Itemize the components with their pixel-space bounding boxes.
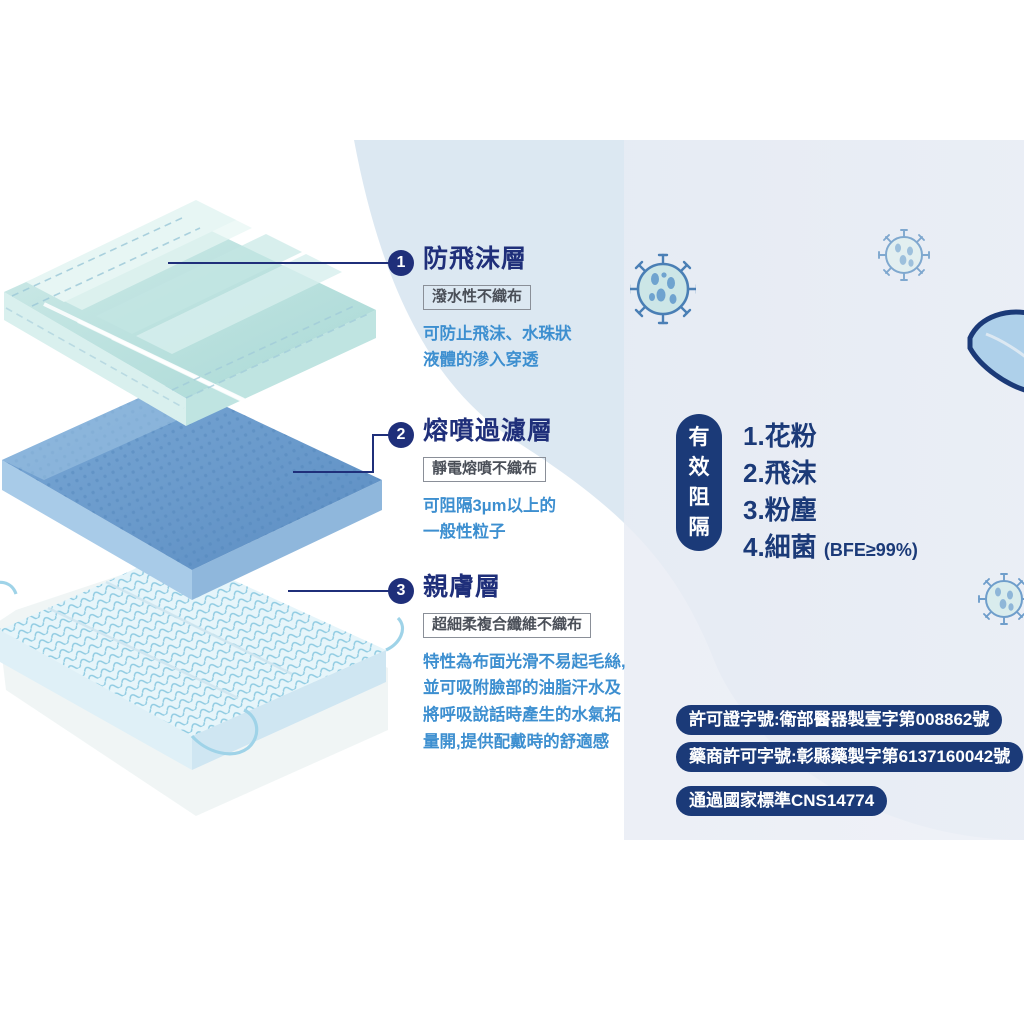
certificate-badge: 藥商許可字號:彰縣藥製字第6137160042號 [676, 742, 1023, 772]
effective-blocking-panel: 有 效 阻 隔 1.花粉 2.飛沫 3.粉塵 4.細菌 (BFE≥99%) [676, 414, 918, 566]
connector-line-1 [168, 262, 394, 264]
layer-title: 防飛沫層 [423, 247, 572, 272]
virus-icon [878, 222, 930, 293]
layer-description: 可阻隔3μm以上的 一般性粒子 [423, 493, 556, 546]
desc-line: 可防止飛沫、水珠狀 [423, 321, 572, 348]
effective-item: 1.花粉 [743, 418, 918, 455]
pill-char: 有 [689, 427, 710, 448]
layer-badge-1: 1 [388, 250, 414, 276]
layer-material-box: 靜電熔噴不織布 [423, 457, 546, 482]
connector-line-2-vertical [372, 434, 374, 473]
mask-sliver-graphic [962, 300, 1024, 425]
connector-line-3 [288, 590, 394, 592]
effective-blocking-pill: 有 效 阻 隔 [676, 414, 722, 551]
bfe-note: (BFE≥99%) [824, 540, 918, 560]
desc-line: 並可吸附臉部的油脂汗水及 [423, 675, 626, 702]
effective-blocking-list: 1.花粉 2.飛沫 3.粉塵 4.細菌 (BFE≥99%) [743, 418, 918, 566]
layer-title: 熔噴過濾層 [423, 419, 556, 444]
effective-item-text: 2.飛沫 [743, 458, 817, 488]
layer-badge-3: 3 [388, 578, 414, 604]
certificate-badge: 通過國家標準CNS14774 [676, 786, 887, 816]
desc-line: 量開,提供配戴時的舒適感 [423, 729, 626, 756]
effective-item-text: 3.粉塵 [743, 495, 817, 525]
layer-description: 可防止飛沫、水珠狀 液體的滲入穿透 [423, 321, 572, 374]
mask-layers-illustration [0, 170, 416, 850]
pill-char: 隔 [689, 517, 710, 538]
effective-item-text: 1.花粉 [743, 421, 817, 451]
certificate-badge: 許可證字號:衛部醫器製壹字第008862號 [676, 705, 1002, 735]
layer-title: 親膚層 [423, 575, 626, 600]
desc-line: 液體的滲入穿透 [423, 347, 572, 374]
desc-line: 一般性粒子 [423, 519, 556, 546]
effective-item: 2.飛沫 [743, 455, 918, 492]
layer-material-box: 潑水性不織布 [423, 285, 531, 310]
connector-line-2-horizontal [293, 471, 374, 473]
virus-icon [978, 566, 1024, 637]
layer-block-3: 親膚層 超細柔複合纖維不織布 特性為布面光滑不易起毛絲, 並可吸附臉部的油脂汗水… [423, 575, 626, 756]
virus-icon [630, 245, 696, 336]
layer-block-2: 熔噴過濾層 靜電熔噴不織布 可阻隔3μm以上的 一般性粒子 [423, 419, 556, 546]
infographic-canvas: 1 2 3 防飛沫層 潑水性不織布 可防止飛沫、水珠狀 液體的滲入穿透 熔噴過濾… [0, 0, 1024, 1024]
layer-block-1: 防飛沫層 潑水性不織布 可防止飛沫、水珠狀 液體的滲入穿透 [423, 247, 572, 374]
layer-description: 特性為布面光滑不易起毛絲, 並可吸附臉部的油脂汗水及 將呼吸說話時產生的水氣拓 … [423, 649, 626, 756]
desc-line: 特性為布面光滑不易起毛絲, [423, 649, 626, 676]
desc-line: 可阻隔3μm以上的 [423, 493, 556, 520]
pill-char: 效 [689, 457, 710, 478]
pill-char: 阻 [689, 487, 710, 508]
layer-badge-2: 2 [388, 422, 414, 448]
effective-item: 4.細菌 (BFE≥99%) [743, 529, 918, 566]
effective-item-text: 4.細菌 [743, 532, 817, 562]
layer-material-box: 超細柔複合纖維不織布 [423, 613, 591, 638]
effective-item: 3.粉塵 [743, 492, 918, 529]
desc-line: 將呼吸說話時產生的水氣拓 [423, 702, 626, 729]
